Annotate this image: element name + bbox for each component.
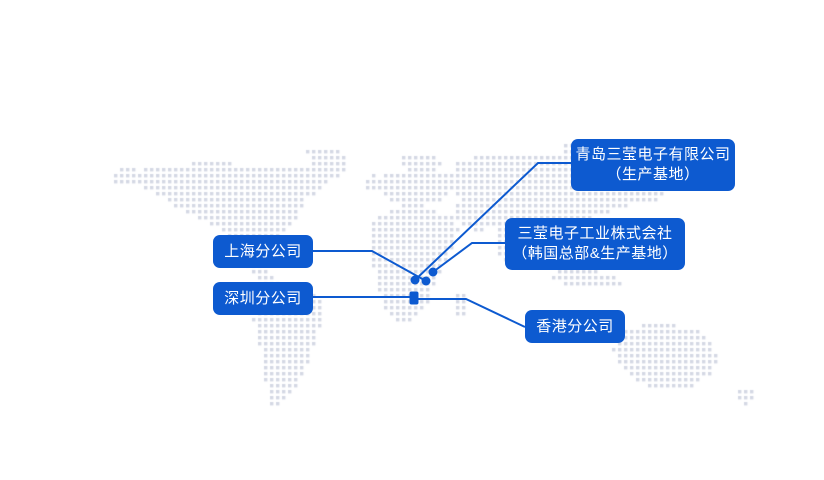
map-label-hongkong[interactable]: 香港分公司 xyxy=(525,310,625,343)
world-map-canvas xyxy=(0,0,824,480)
map-label-shenzhen[interactable]: 深圳分公司 xyxy=(213,282,313,315)
map-label-korea[interactable]: 三莹电子工业株式会社 （韩国总部&生产基地） xyxy=(505,218,685,270)
map-label-qingdao-line2: （生产基地） xyxy=(606,165,699,185)
map-marker-korea[interactable] xyxy=(429,268,438,277)
map-marker-shanghai[interactable] xyxy=(422,277,431,286)
map-marker-hongkong[interactable] xyxy=(410,294,419,305)
world-map-diagram: 青岛三莹电子有限公司 （生产基地） 三莹电子工业株式会社 （韩国总部&生产基地）… xyxy=(0,0,824,480)
map-marker-qingdao[interactable] xyxy=(411,276,420,285)
dotted-world-map xyxy=(0,0,824,480)
map-label-korea-line2: （韩国总部&生产基地） xyxy=(512,244,678,264)
map-label-shanghai-line1: 上海分公司 xyxy=(224,242,302,262)
map-label-shanghai[interactable]: 上海分公司 xyxy=(213,235,313,268)
map-label-korea-line1: 三莹电子工业株式会社 xyxy=(518,224,673,244)
map-label-qingdao-line1: 青岛三莹电子有限公司 xyxy=(576,145,731,165)
map-label-qingdao[interactable]: 青岛三莹电子有限公司 （生产基地） xyxy=(571,139,735,191)
map-label-shenzhen-line1: 深圳分公司 xyxy=(224,289,302,309)
map-label-hongkong-line1: 香港分公司 xyxy=(536,317,614,337)
